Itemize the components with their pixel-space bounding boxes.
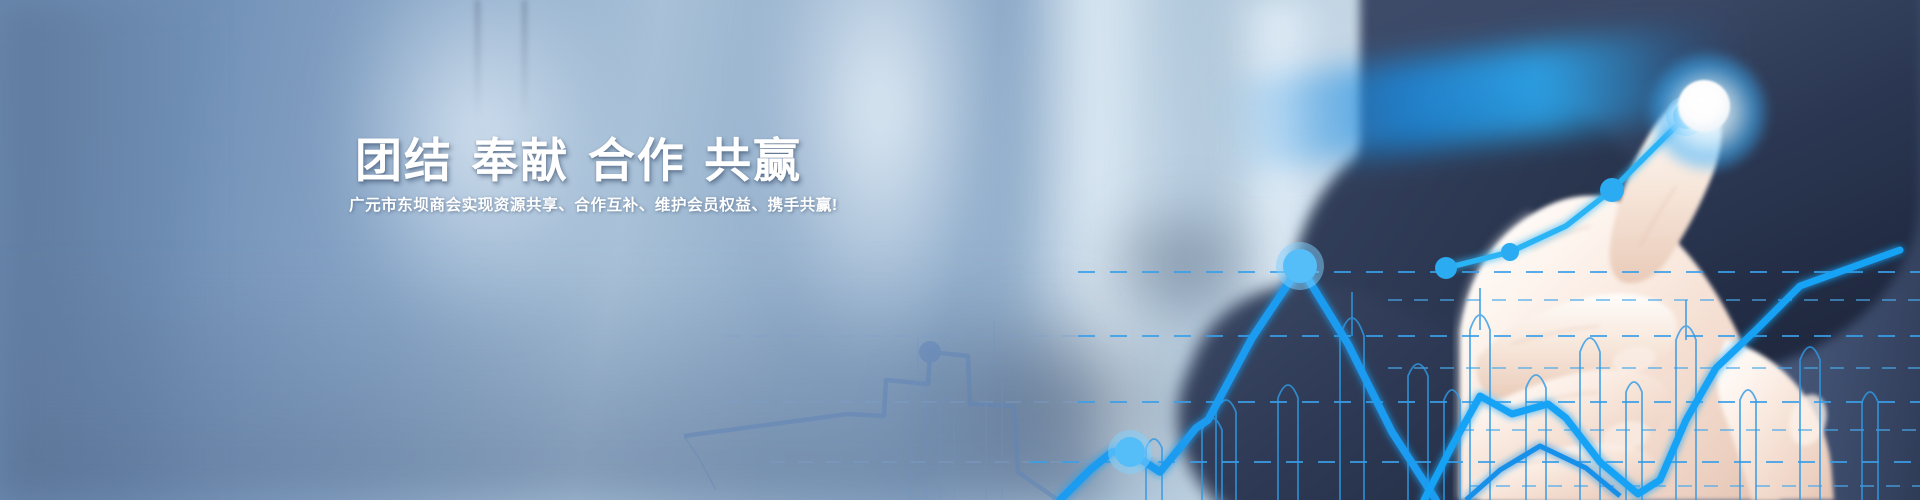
banner-subheadline: 广元市东坝商会实现资源共享、合作互补、维护会员权益、携手共赢! <box>349 193 838 215</box>
banner-copy: 团结 奉献 合作 共赢 广元市东坝商会实现资源共享、合作互补、维护会员权益、携手… <box>0 0 1920 500</box>
banner-headline: 团结 奉献 合作 共赢 <box>355 122 802 191</box>
hero-banner: 团结 奉献 合作 共赢 广元市东坝商会实现资源共享、合作互补、维护会员权益、携手… <box>0 0 1920 500</box>
